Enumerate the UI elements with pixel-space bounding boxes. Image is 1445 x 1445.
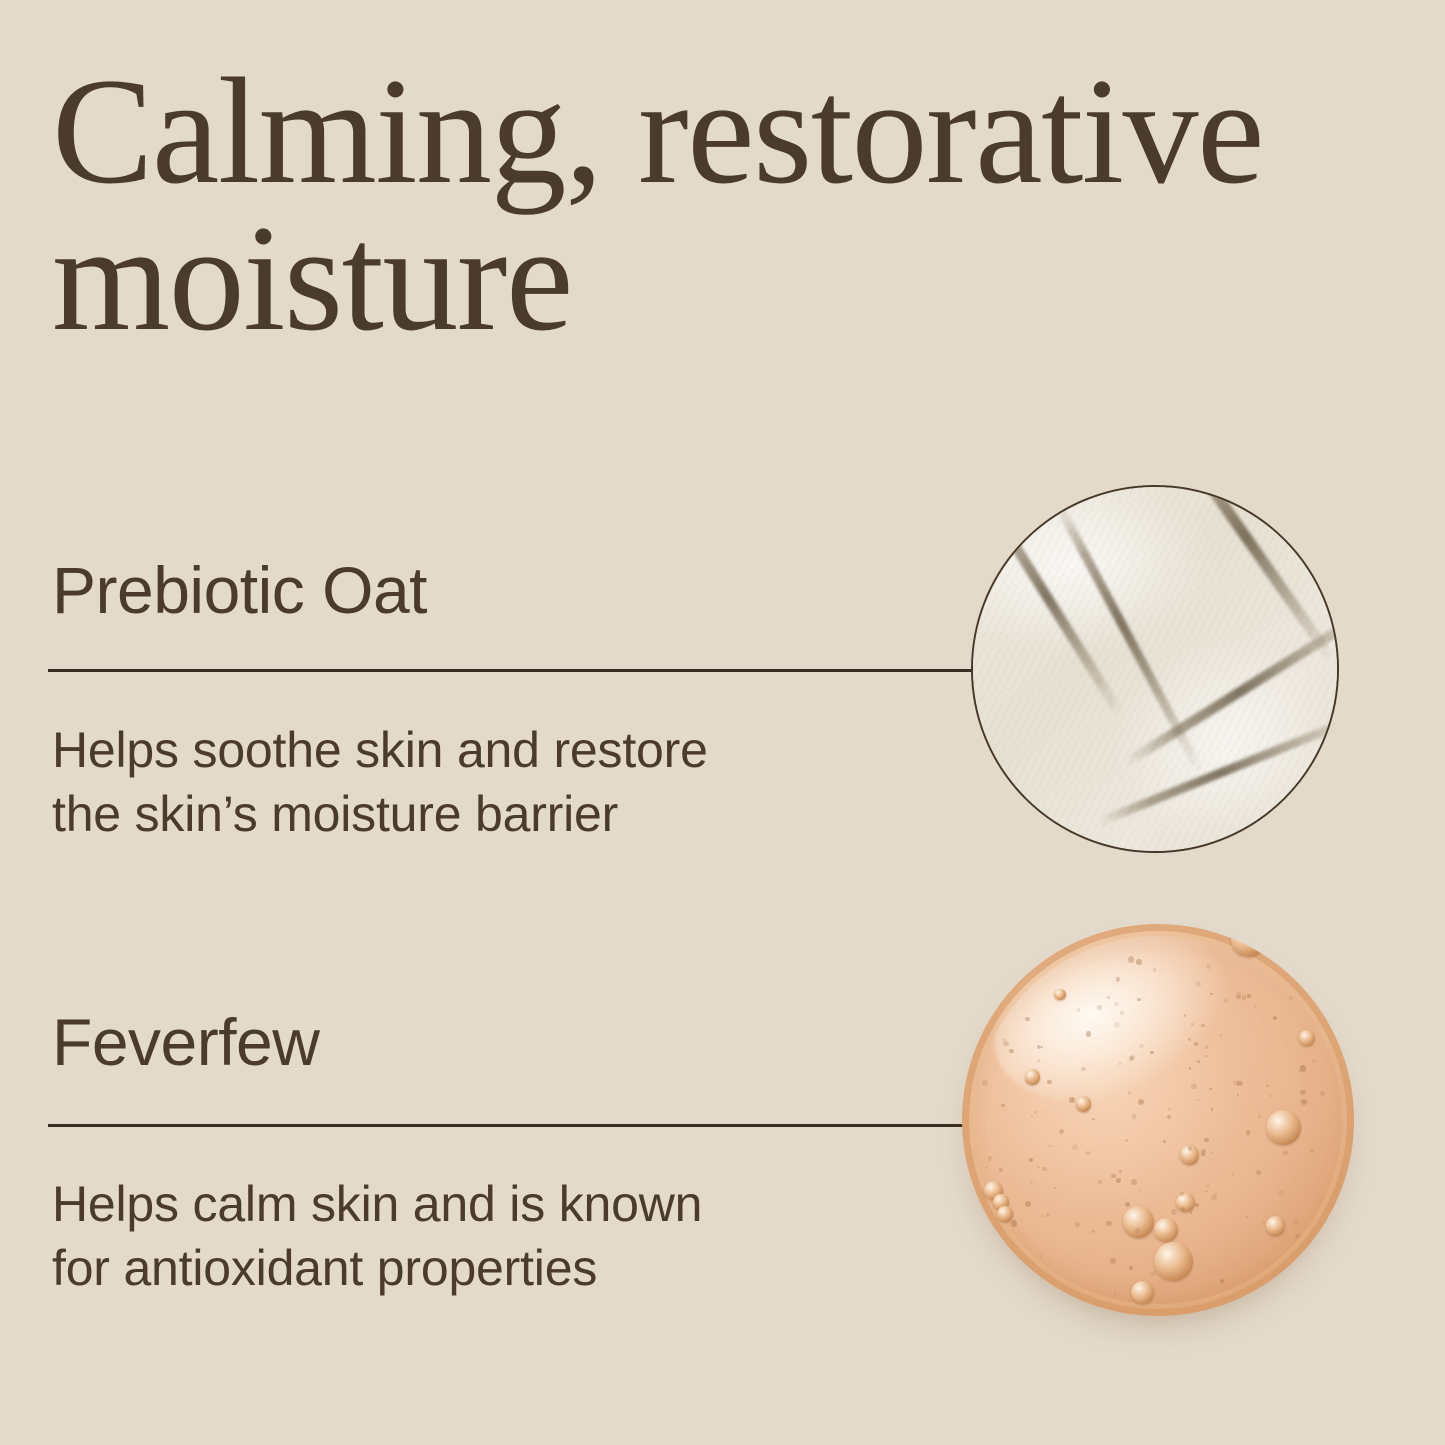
gel-microbubble: [1194, 1042, 1198, 1046]
gel-microbubble: [1236, 995, 1241, 1000]
feverfew-gel-swatch: [962, 924, 1354, 1316]
gel-microbubble: [1001, 1104, 1004, 1107]
ingredient-description-prebiotic-oat: Helps soothe skin and restore the skin’s…: [52, 718, 708, 846]
gel-microbubble: [1030, 1182, 1032, 1184]
gel-microbubble: [1077, 1008, 1080, 1011]
gel-microbubble: [1025, 1201, 1031, 1207]
gel-microbubble: [1211, 1108, 1214, 1111]
gel-microbubble: [1092, 1118, 1094, 1120]
gel-microbubble: [1116, 1178, 1121, 1183]
gel-microbubble: [1049, 1145, 1051, 1147]
gel-microbubble: [1242, 995, 1246, 999]
gel-microbubble: [1129, 1266, 1133, 1270]
gel-microbubble: [1047, 1080, 1051, 1084]
gel-microbubble: [1246, 1216, 1248, 1218]
gel-microbubble: [1190, 1211, 1192, 1213]
gel-microbubble: [1114, 1022, 1120, 1028]
gel-microbubble: [1188, 1146, 1192, 1150]
gel-microbubble: [1195, 1203, 1199, 1207]
gel-microbubble: [1107, 996, 1110, 999]
gel-microbubble: [1204, 1138, 1209, 1143]
gel-microbubble: [1167, 1115, 1171, 1119]
gel-microbubble: [988, 1145, 990, 1147]
gel-microbubble: [1120, 1011, 1123, 1014]
gel-microbubble: [1136, 959, 1141, 964]
gel-microbubble: [1054, 1187, 1056, 1189]
gel-microbubble: [1041, 1215, 1043, 1217]
gel-microbubble: [1247, 994, 1251, 998]
gel-microbubble: [1128, 956, 1134, 962]
gel-microbubble: [1029, 1158, 1033, 1162]
gel-microbubble: [1209, 1088, 1211, 1090]
ingredient-title-prebiotic-oat: Prebiotic Oat: [52, 556, 427, 625]
gel-microbubble: [1128, 1091, 1131, 1094]
gel-microbubble: [1011, 1220, 1017, 1226]
gel-microbubble: [1320, 1091, 1325, 1096]
gel-microbubble: [1114, 1293, 1116, 1295]
gel-bubble: [1299, 1030, 1315, 1046]
gel-microbubble: [1191, 1084, 1196, 1089]
gel-microbubble: [1205, 1190, 1208, 1193]
gel-microbubble: [1211, 1151, 1213, 1153]
gel-bubble: [1154, 1242, 1193, 1281]
gel-microbubble: [1111, 1174, 1116, 1179]
gel-bubble: [1154, 1218, 1178, 1242]
gel-microbubble: [988, 1156, 993, 1161]
gel-microbubble: [1135, 1228, 1140, 1233]
gel-microbubble: [1125, 1139, 1127, 1141]
gel-microbubble: [1131, 1179, 1137, 1185]
divider-feverfew: [48, 1124, 973, 1127]
gel-microbubble: [1110, 1258, 1115, 1263]
gel-bubble: [1176, 1193, 1196, 1213]
gel-microbubble: [1129, 1056, 1133, 1060]
gel-microbubble: [1201, 1153, 1204, 1156]
gel-microbubble: [1283, 1151, 1287, 1155]
gel-microbubble: [1293, 1219, 1299, 1225]
gel-microbubble: [1201, 1024, 1205, 1028]
gel-microbubble: [1059, 1129, 1064, 1134]
product-ingredient-panel: Calming, restorative moisture Prebiotic …: [0, 0, 1445, 1445]
gel-microbubble: [1310, 1149, 1314, 1153]
ingredient-title-feverfew: Feverfew: [52, 1008, 319, 1077]
gel-bubble: [997, 1206, 1013, 1222]
gel-microbubble: [1207, 1185, 1209, 1187]
gel-microbubble: [1037, 1166, 1040, 1169]
gel-bubble: [1131, 1281, 1155, 1305]
gel-microbubble: [1237, 1094, 1239, 1096]
gel-microbubble: [1037, 1045, 1041, 1049]
gel-microbubble: [982, 1080, 987, 1085]
gel-microbubble: [1003, 1041, 1008, 1046]
gel-microbubble: [1292, 1180, 1294, 1182]
gel-bubble: [1266, 1216, 1286, 1236]
gel-microbubble: [1246, 1130, 1251, 1135]
gel-microbubble: [1106, 1221, 1111, 1226]
gel-microbubble: [1119, 1170, 1122, 1173]
gel-microbubble: [1269, 1095, 1271, 1097]
oat-powder-surface: [971, 485, 1339, 853]
gel-microbubble: [1300, 1065, 1306, 1071]
gel-microbubble: [1289, 996, 1292, 999]
divider-prebiotic-oat: [48, 669, 976, 672]
gel-microbubble: [1180, 1192, 1183, 1195]
gel-microbubble: [1151, 1271, 1156, 1276]
gel-microbubble: [1168, 1108, 1170, 1110]
gel-microbubble: [1273, 1016, 1277, 1020]
gel-microbubble: [999, 1168, 1003, 1172]
gel-microbubble: [1188, 1038, 1191, 1041]
gel-microbubble: [1069, 1097, 1075, 1103]
gel-microbubble: [1114, 1002, 1119, 1007]
gel-bubble: [1025, 1069, 1041, 1085]
gel-microbubble: [1206, 964, 1211, 969]
gel-bubble: [1054, 989, 1066, 1001]
gel-microbubble: [1163, 1140, 1166, 1143]
gel-microbubble: [1116, 980, 1118, 982]
gel-microbubble: [1195, 981, 1201, 987]
gel-bubble: [1123, 1206, 1154, 1237]
gel-microbubble: [1037, 1059, 1040, 1062]
gel-microbubble: [1092, 1230, 1095, 1233]
gel-microbubble: [1189, 1067, 1192, 1070]
gel-microbubble: [1031, 1115, 1033, 1117]
oat-powder-swatch: [971, 485, 1339, 853]
gel-microbubble: [1132, 1114, 1136, 1118]
gel-microbubble: [1137, 998, 1140, 1001]
gel-microbubble: [1278, 1190, 1284, 1196]
ingredient-description-feverfew: Helps calm skin and is known for antioxi…: [52, 1172, 702, 1300]
gel-microbubble: [1086, 1031, 1092, 1037]
page-title: Calming, restorative moisture: [52, 58, 1382, 353]
